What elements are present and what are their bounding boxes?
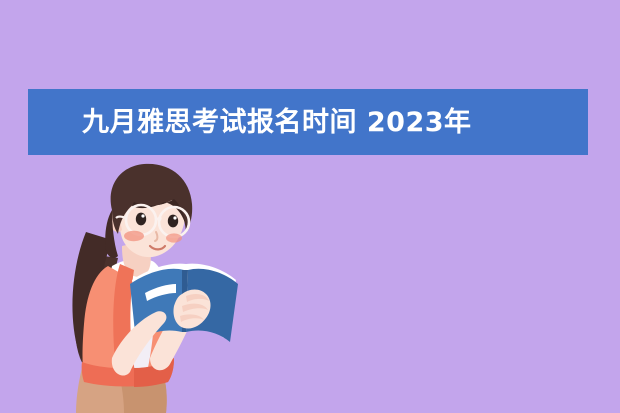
eye-right xyxy=(168,215,178,228)
eye-right-highlight xyxy=(173,216,176,219)
banner-canvas: 九月雅思考试报名时间 2023年 xyxy=(0,0,620,413)
eye-left-highlight xyxy=(141,214,144,217)
eye-left xyxy=(136,213,146,226)
page-title: 九月雅思考试报名时间 2023年 xyxy=(82,109,472,136)
blush-right xyxy=(166,233,182,242)
woman-reading-illustration-svg xyxy=(46,162,266,413)
blush-left xyxy=(124,231,144,241)
illustration-woman-reading xyxy=(46,162,266,413)
title-banner: 九月雅思考试报名时间 2023年 xyxy=(28,89,588,155)
